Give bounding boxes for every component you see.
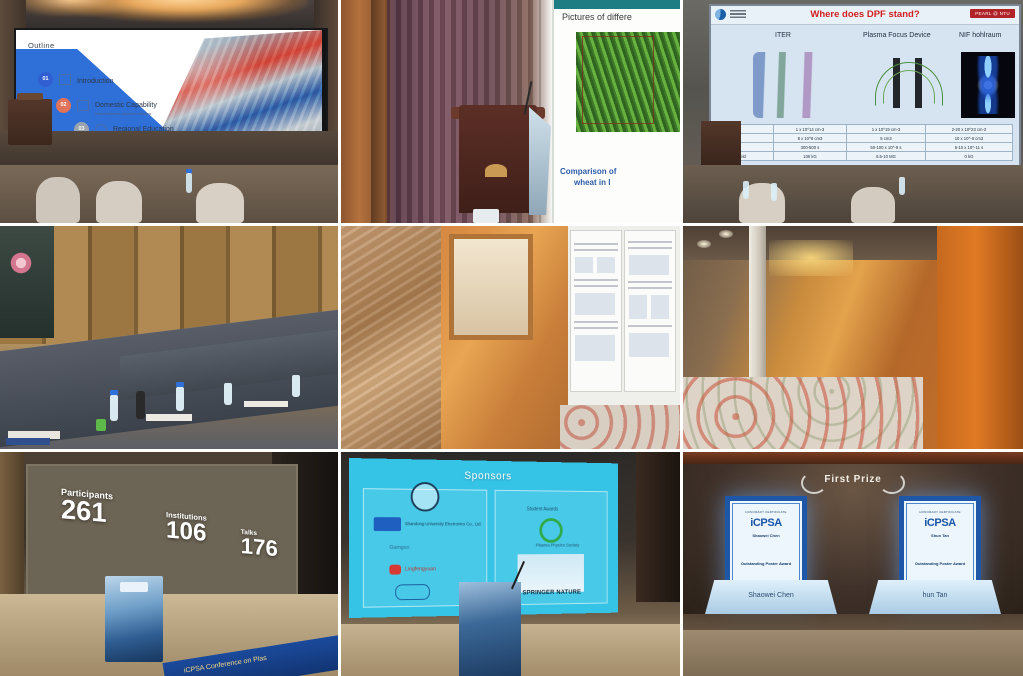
bottle-cap (110, 390, 118, 395)
chair (196, 183, 244, 223)
carpet (560, 405, 680, 449)
certificate-header: HONORARY CERTIFICATE (904, 510, 976, 514)
slide-photo-wheat (576, 32, 680, 132)
slide-heading: Outline (28, 41, 55, 50)
notepad (244, 401, 288, 407)
cell: 300-500 s (774, 143, 847, 152)
bottle-cap (176, 382, 184, 387)
certificate-award: Outstanding Poster Award (904, 561, 976, 566)
panel-two-delegates-talking[interactable] (683, 226, 1023, 449)
panel-poster-session-group[interactable]: iCPSA (341, 226, 680, 449)
outline-sub-2: Plasma Research and Device Overview (95, 112, 157, 116)
podium (8, 99, 52, 145)
water-bottle (110, 395, 118, 421)
stat-talks: Talks 176 (241, 529, 278, 560)
green-circle-icon (539, 518, 562, 543)
cell: 10 x 10^-6 cm3 (925, 134, 1012, 143)
journal-cover (518, 554, 584, 593)
cell: 5 cm3 (846, 134, 925, 143)
certificate-name: Shun Tan (904, 533, 976, 538)
poster-board (570, 230, 622, 392)
stat-value: 176 (241, 536, 278, 560)
panel-sponsors-slide[interactable]: Sponsors Shandong University Electronics… (341, 452, 680, 676)
thermos (136, 391, 145, 419)
sponsor-name-3: Lingfengyuan (405, 566, 436, 572)
certificate-org: iCPSA (730, 517, 802, 529)
slide-subtitle: Comparison of wheat in l (560, 166, 616, 189)
chandelier-secondary-icon (12, 0, 132, 16)
panel-dpf-comparison[interactable]: Where does DPF stand? PEARL @ NTU ITER P… (683, 0, 1023, 223)
water-bottle (176, 387, 184, 411)
slide-subtitle-line2: wheat in l (574, 177, 610, 189)
chair (36, 177, 80, 223)
certificate-name: Shaowei Chen (730, 533, 802, 538)
plinth-right: hun Tan (869, 580, 1001, 614)
water-bottle (743, 181, 749, 199)
phone-screen (473, 209, 499, 223)
slide-subtitle-line1: Comparison of (560, 167, 616, 176)
podium (701, 121, 741, 165)
plinth-name-left: Shaowei Chen (705, 592, 837, 599)
cell: 8 x 10^8 cm3 (774, 134, 847, 143)
plinth-left: Shaowei Chen (705, 580, 837, 614)
cell: 100 kG (774, 152, 847, 161)
banner-text: iCPSA Conference on Plas (184, 655, 268, 675)
cell: 5-10 x 10^-11 s (925, 143, 1012, 152)
cell: 0 kG (925, 152, 1012, 161)
podium-logo-icon (120, 582, 148, 592)
screen-header-band (554, 0, 680, 9)
podium (459, 582, 521, 676)
panel-speaker-podium[interactable]: Pictures of differe Comparison of wheat … (341, 0, 680, 223)
carpet (683, 377, 923, 449)
podium (105, 576, 163, 662)
poster-board (624, 230, 676, 392)
orange-wall (937, 226, 1023, 449)
stage-floor (683, 630, 1023, 676)
water-bottle (292, 375, 300, 397)
gift-icon (77, 100, 89, 111)
cell: 1 x 10^19 cm-3 (846, 125, 925, 134)
certificate-org: iCPSA (904, 517, 976, 529)
water-bottle (224, 383, 232, 405)
panel-first-prize[interactable]: First Prize HONORARY CERTIFICATE iCPSA S… (683, 452, 1023, 676)
projection-screen: Pictures of differe Comparison of wheat … (552, 0, 680, 223)
podium-emblem-icon (485, 164, 507, 177)
icpsa-logo-icon (395, 584, 430, 600)
green-cup (96, 419, 106, 431)
cell: 6.5-10 MG (846, 152, 925, 161)
cell: 1 x 10^14 cm-3 (774, 125, 847, 134)
cell: 2-20 x 10^23 cm-3 (925, 125, 1012, 134)
certificate-header: HONORARY CERTIFICATE (730, 510, 802, 514)
nif-hohlraum-image (961, 52, 1015, 118)
comparison-table: Density 1 x 10^14 cm-3 1 x 10^19 cm-3 2-… (717, 124, 1013, 161)
podium (459, 105, 537, 213)
stat-value: 106 (166, 519, 207, 546)
stat-value: 261 (61, 497, 113, 527)
table-row: Volume 8 x 10^8 cm3 5 cm3 10 x 10^-6 cm3 (718, 134, 1013, 143)
grid-icon (59, 74, 71, 85)
bottle-cap (186, 169, 192, 173)
projection-screen: Where does DPF stand? PEARL @ NTU ITER P… (709, 4, 1021, 184)
panel-keynote-outline[interactable]: Outline 01 Introduction 02 Domestic Capa… (0, 0, 338, 223)
lotus-icon (8, 252, 34, 274)
certificate-award: Outstanding Poster Award (730, 561, 802, 566)
curtain (636, 452, 680, 602)
sponsor-logo-mark (374, 517, 401, 531)
prize-title: First Prize (683, 474, 1023, 485)
sponsor-name-2: Gamgoo (389, 545, 409, 551)
sponsor-name-1: Shandong University Electronics Co., Ltd… (405, 521, 482, 526)
stage-top-band (683, 452, 1023, 464)
stat-institutions: Institutions 106 (166, 510, 207, 546)
cell: 50-100 x 10^-9 s (846, 143, 925, 152)
university-seal-icon (411, 482, 440, 512)
column-title-nif: NIF hohlraum (959, 32, 1001, 39)
podium-side-panel (529, 107, 551, 215)
water-bottle (771, 183, 777, 201)
water-bottle (186, 173, 192, 193)
chair (851, 187, 895, 223)
outline-row-2: 02 Domestic Capability Plasma Research a… (56, 94, 157, 116)
ceiling-light-icon (719, 230, 733, 238)
iter-diagram-overlay (753, 52, 849, 118)
backlight-glow (769, 240, 853, 276)
wood-panel-mid (371, 0, 385, 223)
outline-label-2: Domestic Capability (95, 102, 157, 109)
folder (6, 438, 50, 445)
wall-artwork (0, 226, 54, 338)
slide-heading: Pictures of differe (562, 12, 632, 22)
panel-audience-tables[interactable] (0, 226, 338, 449)
outline-badge-1: 01 (38, 72, 53, 87)
plasma-focus-diagram (871, 54, 945, 116)
stat-participants: Participants 261 (61, 487, 113, 528)
outline-badge-2: 02 (56, 98, 71, 113)
table-row: Density 1 x 10^14 cm-3 1 x 10^19 cm-3 2-… (718, 125, 1013, 134)
sponsor-name-5: Plasma Physics Society (536, 543, 580, 548)
photo-collage: Outline 01 Introduction 02 Domestic Capa… (0, 0, 1023, 676)
chair (96, 181, 142, 223)
notepad (146, 414, 192, 421)
column-title-iter: ITER (775, 32, 791, 39)
outline-label-1: Introduction (77, 78, 114, 85)
ceiling-light-icon (697, 240, 711, 248)
table-row: Duration 300-500 s 50-100 x 10^-9 s 5-10… (718, 143, 1013, 152)
sponsor-logo-mark (389, 565, 401, 575)
table-row: Magnetic field 100 kG 6.5-10 MG 0 kG (718, 152, 1013, 161)
column-title-pfd: Plasma Focus Device (863, 32, 931, 39)
water-bottle (899, 177, 905, 195)
plinth-name-right: hun Tan (869, 592, 1001, 599)
panel-conference-stats[interactable]: Participants 261 Institutions 106 Talks … (0, 452, 338, 676)
doorway (449, 234, 533, 340)
sponsor-name-4: Student Awards (527, 506, 558, 512)
marble-column (341, 226, 441, 449)
plasma-beam (973, 56, 1003, 114)
pearl-badge: PEARL @ NTU (970, 9, 1015, 18)
slide-title: Sponsors (349, 468, 618, 484)
outline-row-1: 01 Introduction (38, 70, 114, 88)
